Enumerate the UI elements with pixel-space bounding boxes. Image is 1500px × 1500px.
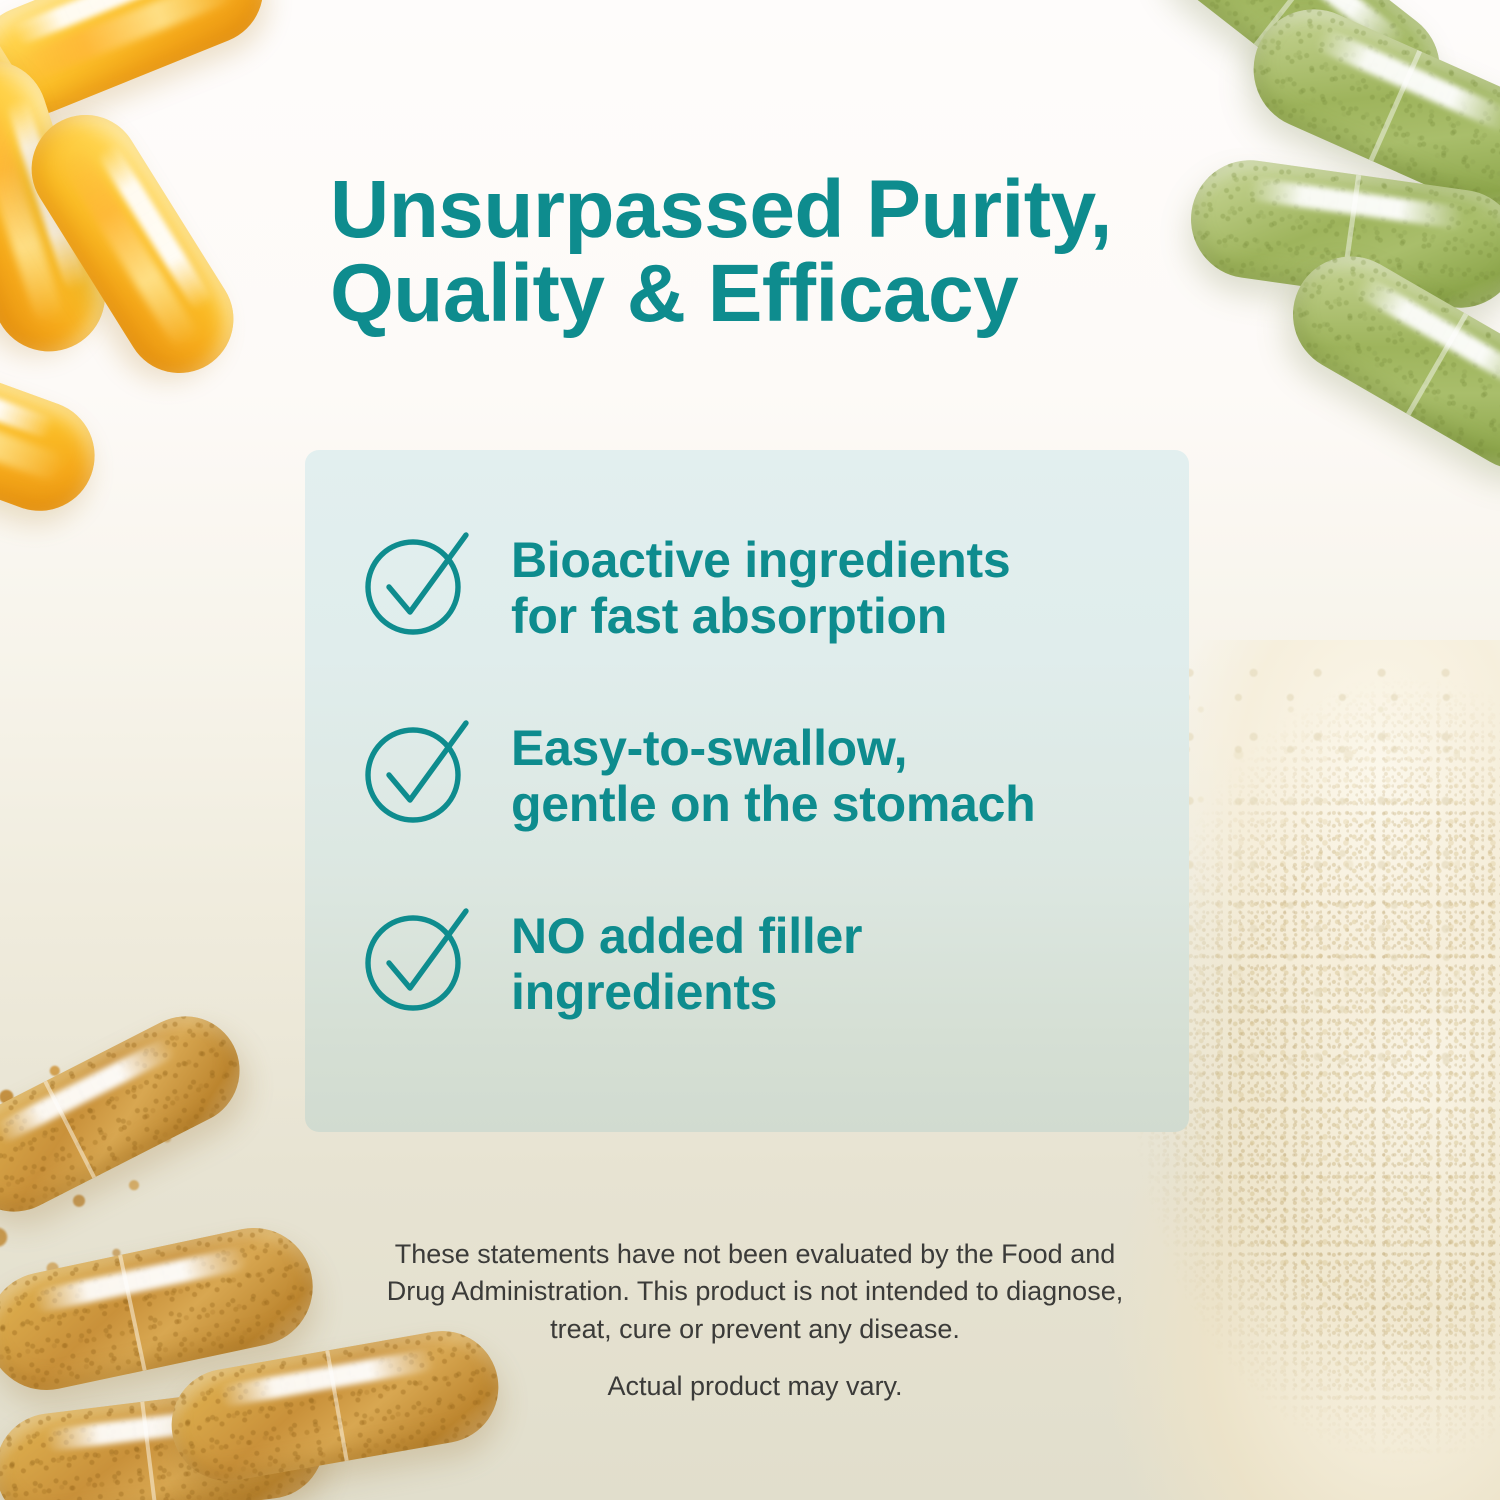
turmeric-powder-crumbs	[0, 1050, 200, 1310]
softgel-capsule	[0, 0, 280, 132]
product-feature-image: Unsurpassed Purity, Quality & Efficacy B…	[0, 0, 1500, 1500]
turmeric-capsule	[0, 1380, 331, 1500]
green-capsule	[1272, 235, 1500, 490]
turmeric-capsule	[0, 1217, 324, 1401]
softgel-capsule	[11, 95, 254, 394]
golden-softgel-capsules-group	[0, 0, 310, 600]
benefits-card: Bioactive ingredients for fast absorptio…	[305, 450, 1189, 1132]
green-capsule	[1183, 153, 1500, 316]
benefits-list: Bioactive ingredients for fast absorptio…	[363, 528, 1149, 1020]
list-item: Easy-to-swallow, gentle on the stomach	[363, 716, 1149, 832]
list-item-label: Bioactive ingredients for fast absorptio…	[511, 528, 1010, 644]
green-capsule	[1234, 0, 1500, 230]
check-circle-icon	[363, 718, 471, 826]
list-item: NO added filler ingredients	[363, 904, 1149, 1020]
list-item-label: Easy-to-swallow, gentle on the stomach	[511, 716, 1035, 832]
softgel-capsule	[0, 324, 110, 527]
green-capsule	[1147, 0, 1464, 151]
list-item: Bioactive ingredients for fast absorptio…	[363, 528, 1149, 644]
page-title: Unsurpassed Purity, Quality & Efficacy	[330, 168, 1210, 335]
check-circle-icon	[363, 906, 471, 1014]
check-circle-icon	[363, 530, 471, 638]
softgel-capsule	[0, 46, 120, 366]
turmeric-capsule	[0, 998, 258, 1230]
fda-disclaimer: These statements have not been evaluated…	[330, 1236, 1180, 1348]
list-item-label: NO added filler ingredients	[511, 904, 862, 1020]
softgel-capsule	[0, 0, 80, 231]
product-variation-note: Actual product may vary.	[330, 1368, 1180, 1405]
